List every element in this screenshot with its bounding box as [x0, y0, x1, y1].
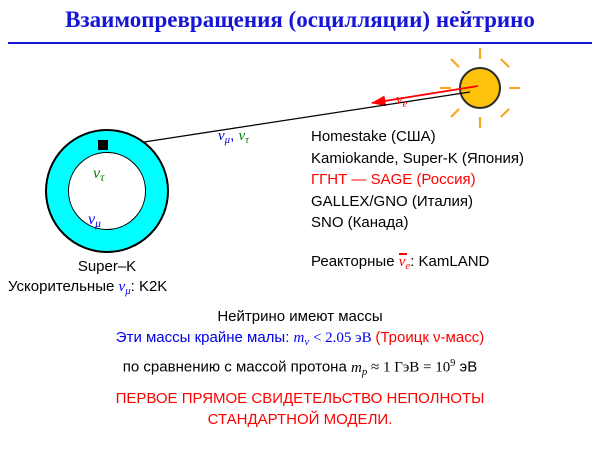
conclusion-line-1: ПЕРВОЕ ПРЯМОЕ СВИДЕТЕЛЬСТВО НЕПОЛНОТЫ	[0, 388, 600, 409]
list-item: Kamiokande, Super-K (Япония)	[311, 148, 596, 170]
mass-line-2-source: (Троицк ν-масс)	[375, 329, 484, 346]
list-item: Homestake (США)	[311, 126, 596, 148]
mass-line-3: по сравнению с массой протона mp ≈ 1 ГэВ…	[0, 353, 600, 383]
label-separator: ,	[230, 127, 234, 144]
reactor-suffix: : KamLAND	[410, 253, 489, 270]
label-nu-e: νe	[396, 92, 407, 110]
detector-caption: Super–K	[45, 258, 169, 275]
list-item: GALLEX/GNO (Италия)	[311, 191, 596, 213]
label-nu-tau-inner: ντ	[93, 165, 104, 184]
mass-line-2-prefix: Эти массы крайне малы:	[116, 329, 294, 346]
nu-e-subscript: e	[403, 98, 408, 110]
mass-line-2: Эти массы крайне малы: mν < 2.05 эВ (Тро…	[0, 327, 600, 353]
page-title: Взаимопревращения (осцилляции) нейтрино	[0, 7, 600, 33]
nu-mu-symbol-flight: νμ	[218, 128, 230, 144]
list-item: SNO (Канада)	[311, 212, 596, 234]
slide-canvas: Взаимопревращения (осцилляции) нейтрино	[0, 0, 600, 450]
nu-tau-symbol-flight: ντ	[238, 128, 249, 144]
conclusion-line-2: СТАНДАРТНОЙ МОДЕЛИ.	[0, 409, 600, 430]
mass-line-3-mid: ≈ 1 ГэВ = 10	[367, 360, 450, 376]
nu-e-symbol: ν	[396, 92, 403, 108]
experiment-list: Homestake (США) Kamiokande, Super-K (Япо…	[311, 126, 596, 234]
mass-statement-block: Нейтрино имеют массы Эти массы крайне ма…	[0, 306, 600, 383]
accelerator-suffix: : K2K	[131, 278, 168, 295]
mass-line-3-suffix: эВ	[455, 359, 477, 376]
mass-line-1: Нейтрино имеют массы	[0, 306, 600, 327]
detector-inner-volume	[68, 152, 146, 230]
nu-tau-subscript: τ	[100, 172, 104, 184]
anti-nu-e-symbol: νe	[399, 254, 410, 270]
conclusion-block: ПЕРВОЕ ПРЯМОЕ СВИДЕТЕЛЬСТВО НЕПОЛНОТЫ СТ…	[0, 388, 600, 430]
super-k-detector	[45, 129, 169, 253]
accelerator-prefix: Ускорительные	[8, 278, 119, 295]
label-nu-mu-inner: νμ	[88, 211, 101, 230]
reactor-experiment-line: Реакторные νe: KamLAND	[311, 253, 489, 272]
label-nu-mu-nu-tau: νμ, ντ	[218, 127, 249, 146]
list-item: ГГНТ — SAGE (Россия)	[311, 169, 596, 191]
mass-line-2-value: < 2.05 эВ	[309, 330, 375, 346]
mass-line-3-prefix: по сравнению с массой протона	[123, 359, 351, 376]
overbar-icon	[399, 253, 407, 255]
title-divider	[8, 42, 592, 44]
detector-event-marker	[98, 140, 108, 150]
sun-disc	[459, 67, 501, 109]
accelerator-experiment-line: Ускорительные νμ: K2K	[8, 278, 167, 297]
nu-mu-subscript: μ	[95, 218, 101, 230]
accelerator-nu-symbol: νμ	[119, 279, 131, 295]
mass-symbol-nu: mν	[294, 330, 310, 346]
reactor-prefix: Реакторные	[311, 253, 399, 270]
mass-symbol-proton: mp	[351, 360, 367, 376]
sun-graphic	[440, 48, 520, 128]
